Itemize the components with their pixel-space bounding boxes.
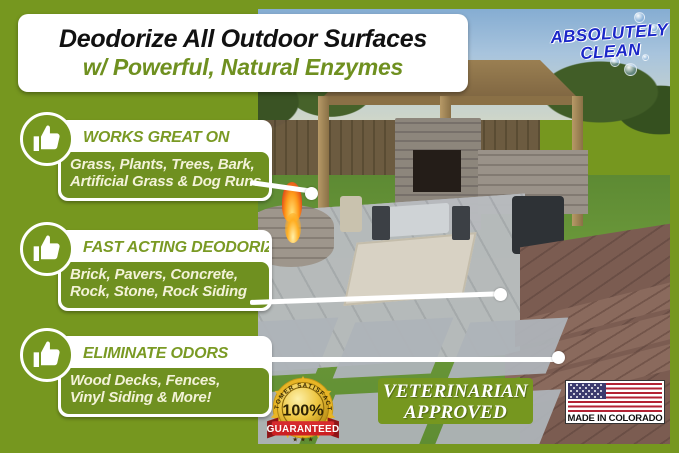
made-in-colorado-label: MADE IN COLORADO xyxy=(568,414,663,424)
frame-border-right xyxy=(670,0,679,453)
thumbs-up-icon xyxy=(20,112,74,166)
flame xyxy=(285,213,301,243)
frame-border-top xyxy=(0,0,679,9)
frame-border-left xyxy=(0,0,9,453)
patio-table xyxy=(385,203,449,237)
feature-card: ELIMINATE ODORS Wood Decks, Fences, Viny… xyxy=(58,336,272,417)
made-in-colorado-badge: MADE IN COLORADO xyxy=(565,380,665,424)
thumbs-up-icon xyxy=(20,222,74,276)
veterinarian-line-2: APPROVED xyxy=(404,403,507,422)
feature-card: FAST ACTING DEODORIZER Brick, Pavers, Co… xyxy=(58,230,272,311)
seal-stars: ★ ★ ★ xyxy=(292,436,314,444)
headline-line-2: w/ Powerful, Natural Enzymes xyxy=(83,54,403,80)
headline-line-1: Deodorize All Outdoor Surfaces xyxy=(59,26,427,52)
feature-body-line-2: Vinyl Siding & More! xyxy=(70,390,260,407)
satisfaction-guarantee-seal: CUSTOMER SATISFACTION 100% GUARANTEED ★ … xyxy=(265,374,341,444)
callout-connector-dot-3 xyxy=(552,351,565,364)
feature-heading: WORKS GREAT ON xyxy=(61,123,269,152)
thumbs-up-icon xyxy=(20,328,74,382)
feature-body-line-1: Grass, Plants, Trees, Bark, xyxy=(70,157,260,174)
flag-stars xyxy=(568,383,606,399)
feature-body-line-2: Rock, Stone, Rock Siding xyxy=(70,284,260,301)
bar-stool xyxy=(340,196,362,232)
callout-connector-dot-1 xyxy=(305,187,318,200)
veterinarian-approved-badge: VETERINARIAN APPROVED xyxy=(378,378,533,424)
seal-banner-text: GUARANTEED xyxy=(267,424,340,435)
brand-line-2: CLEAN xyxy=(580,41,642,63)
brand-logo: ABSOLUTELY CLEAN xyxy=(546,10,674,77)
feature-body: Wood Decks, Fences, Vinyl Siding & More! xyxy=(61,368,269,414)
feature-body: Grass, Plants, Trees, Bark, Artificial G… xyxy=(61,152,269,198)
veterinarian-line-1: VETERINARIAN xyxy=(383,382,528,401)
feature-body-line-2: Artificial Grass & Dog Runs xyxy=(70,174,260,191)
frame-border-bottom xyxy=(0,444,679,453)
seal-center-text: 100% xyxy=(282,402,323,420)
callout-connector-line-3 xyxy=(250,357,560,362)
feature-heading: ELIMINATE ODORS xyxy=(61,339,269,368)
feature-heading: FAST ACTING DEODORIZER xyxy=(61,233,269,262)
fireplace-opening xyxy=(413,150,461,192)
feature-body-line-1: Wood Decks, Fences, xyxy=(70,373,260,390)
patio-chair xyxy=(372,206,390,240)
us-flag-icon xyxy=(568,383,662,412)
callout-connector-dot-2 xyxy=(494,288,507,301)
feature-card: WORKS GREAT ON Grass, Plants, Trees, Bar… xyxy=(58,120,272,201)
feature-body: Brick, Pavers, Concrete, Rock, Stone, Ro… xyxy=(61,262,269,308)
feature-body-line-1: Brick, Pavers, Concrete, xyxy=(70,267,260,284)
patio-chair xyxy=(452,206,470,240)
product-ad-image: Deodorize All Outdoor Surfaces w/ Powerf… xyxy=(0,0,679,453)
headline-banner: Deodorize All Outdoor Surfaces w/ Powerf… xyxy=(18,14,468,92)
